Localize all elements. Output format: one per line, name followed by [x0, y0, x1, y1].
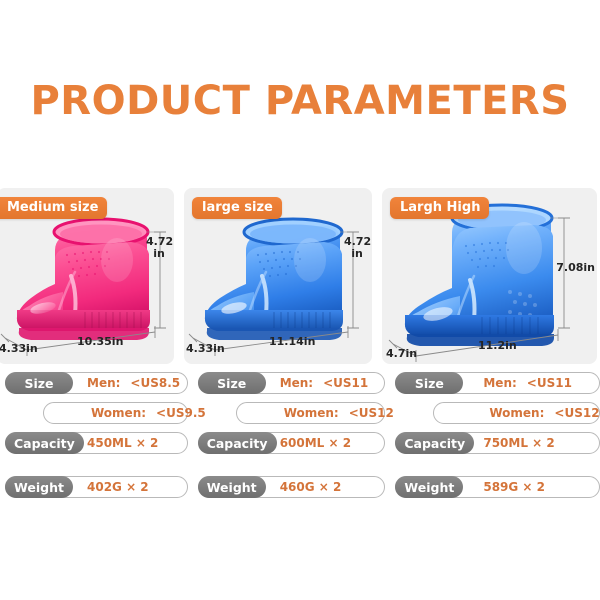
spec-label-size: Size: [5, 372, 73, 394]
spec-row-size-men-1: Size Men: <US8.5: [5, 372, 188, 394]
spec-value-men: Men: <US11: [280, 372, 369, 394]
spec-column-medium: Size Men: <US8.5 Women: <US9.5 Capacity …: [5, 372, 188, 506]
spec-row-size-women-3: Women: <US12: [395, 402, 600, 424]
spec-row-capacity-2: Capacity 600ML × 2: [198, 432, 386, 454]
spec-value-women: Women: <US12: [489, 402, 599, 424]
spec-label-capacity: Capacity: [395, 432, 474, 454]
dimension-height-2: 4.72 in: [344, 236, 370, 259]
dimension-length-1: 10.35in: [77, 336, 123, 348]
spec-label-weight: Weight: [198, 476, 266, 498]
spec-value-women: Women: <US9.5: [91, 402, 206, 424]
spec-key-men: Men:: [280, 376, 313, 390]
spec-row-capacity-1: Capacity 450ML × 2: [5, 432, 188, 454]
spec-row-size-women-2: Women: <US12: [198, 402, 386, 424]
product-panel-medium: Medium size: [0, 188, 174, 364]
product-panel-large: large size: [184, 188, 372, 364]
spec-value-men-text: <US8.5: [130, 376, 180, 390]
spec-value-women-text: <US12: [554, 406, 599, 420]
size-tab-largh-high: Largh High: [390, 197, 489, 219]
spec-row-size-men-2: Size Men: <US11: [198, 372, 386, 394]
dimension-width-3: 4.7in: [386, 348, 417, 360]
spec-key-women: Women:: [489, 406, 544, 420]
spec-row-size-men-3: Size Men: <US11: [395, 372, 600, 394]
page-title: PRODUCT PARAMETERS: [0, 78, 600, 124]
spec-value-men: Men: <US8.5: [87, 372, 180, 394]
spec-value-capacity: 600ML × 2: [280, 432, 351, 454]
spec-label-weight: Weight: [5, 476, 73, 498]
spec-key-women: Women:: [91, 406, 146, 420]
spec-key-men: Men:: [483, 376, 516, 390]
dimension-width-1: 4.33in: [0, 343, 38, 355]
spec-value-men-text: <US11: [323, 376, 368, 390]
spec-value-women: Women: <US12: [284, 402, 394, 424]
dimension-height-3: 7.08in: [556, 262, 595, 274]
dimension-length-2: 11.14in: [269, 336, 315, 348]
spec-value-capacity: 450ML × 2: [87, 432, 158, 454]
spec-row-weight-3: Weight 589G × 2: [395, 476, 600, 498]
product-panel-largh-high: Largh High: [382, 188, 597, 364]
spec-key-men: Men:: [87, 376, 120, 390]
dimension-length-3: 11.2in: [478, 340, 517, 352]
spec-value-weight: 589G × 2: [483, 476, 545, 498]
spec-row-weight-2: Weight 460G × 2: [198, 476, 386, 498]
size-tab-large: large size: [192, 197, 282, 219]
dimension-height-1: 4.72 in: [146, 236, 172, 259]
spec-value-capacity: 750ML × 2: [483, 432, 554, 454]
spec-value-men-text: <US11: [527, 376, 572, 390]
spec-value-women-text: <US12: [349, 406, 394, 420]
spec-row-capacity-3: Capacity 750ML × 2: [395, 432, 600, 454]
spec-column-largh-high: Size Men: <US11 Women: <US12 Capacity 75…: [395, 372, 600, 506]
spec-value-men: Men: <US11: [483, 372, 572, 394]
spec-key-women: Women:: [284, 406, 339, 420]
spec-value-women-text: <US9.5: [156, 406, 206, 420]
size-tab-medium: Medium size: [0, 197, 107, 219]
spec-table: Size Men: <US8.5 Women: <US9.5 Capacity …: [0, 372, 600, 506]
spec-label-capacity: Capacity: [198, 432, 277, 454]
spec-label-size: Size: [198, 372, 266, 394]
spec-column-large: Size Men: <US11 Women: <US12 Capacity 60…: [198, 372, 386, 506]
spec-label-capacity: Capacity: [5, 432, 84, 454]
product-panels: Medium size: [0, 188, 600, 364]
spec-label-weight: Weight: [395, 476, 463, 498]
spec-row-weight-1: Weight 402G × 2: [5, 476, 188, 498]
spec-label-size: Size: [395, 372, 463, 394]
dimension-width-2: 4.33in: [186, 343, 225, 355]
spec-value-weight: 460G × 2: [280, 476, 342, 498]
spec-row-size-women-1: Women: <US9.5: [5, 402, 188, 424]
spec-value-weight: 402G × 2: [87, 476, 149, 498]
